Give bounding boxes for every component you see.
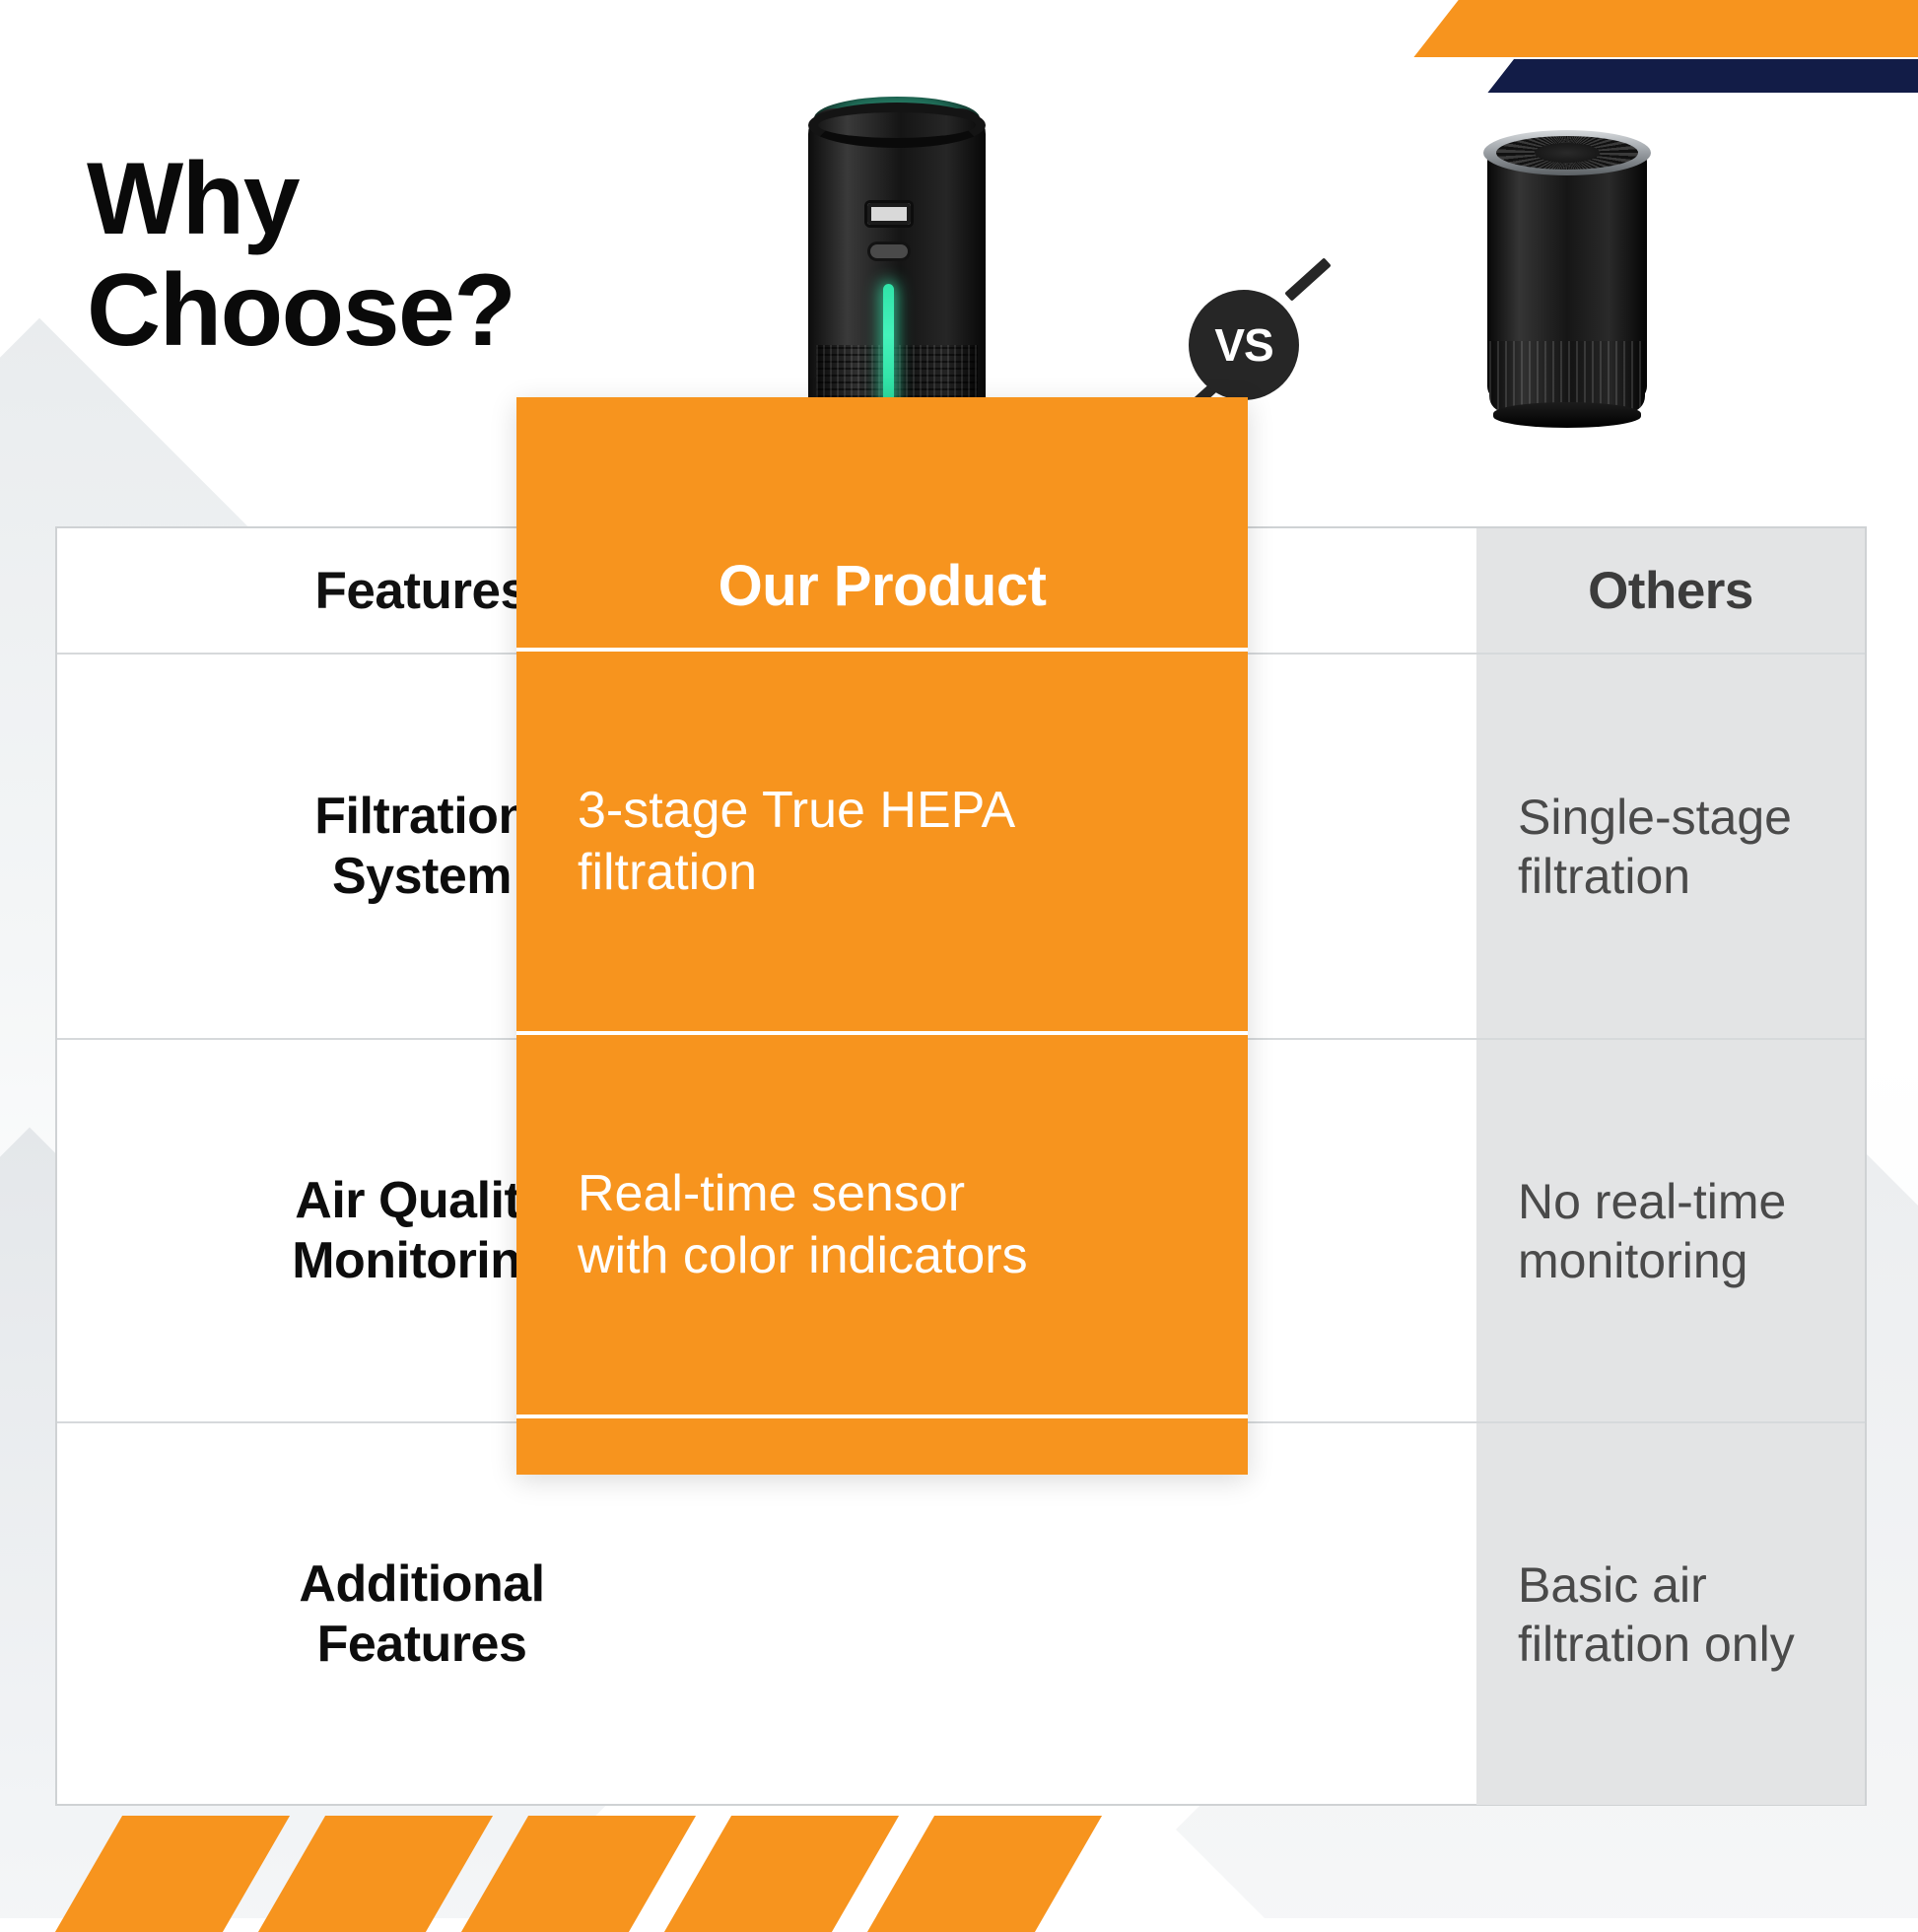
air-quality-led-indicator: [883, 284, 894, 412]
page-title: Why Choose?: [87, 144, 514, 368]
competitor-product-image: [1483, 130, 1651, 446]
others-cell: No real-time monitoring: [1476, 1040, 1865, 1421]
bottom-stripe: [867, 1816, 1102, 1932]
competitor-product-base: [1493, 402, 1641, 428]
competitor-fan-hub: [1535, 143, 1600, 163]
page-title-line-1: Why: [87, 144, 514, 255]
bottom-stripe: [461, 1816, 696, 1932]
corner-band-navy: [1487, 59, 1918, 93]
feature-label: Air Quality Monitoring: [292, 1171, 552, 1290]
feature-label: Filtration System: [314, 787, 528, 906]
header-label-others: Others: [1518, 561, 1823, 621]
others-value: No real-time monitoring: [1518, 1172, 1786, 1290]
our-product-cell: Real-time sensor with color indicators: [516, 1035, 1248, 1418]
our-product-value: Starry lights, USB charging, ions: [578, 1549, 982, 1672]
bottom-stripe: [55, 1816, 290, 1932]
our-product-column-header: Our Product: [516, 523, 1248, 652]
corner-band-orange: [1413, 0, 1918, 57]
our-product-cell: 3-stage True HEPA filtration: [516, 652, 1248, 1035]
header-label-features: Features: [315, 561, 529, 621]
our-product-cell: Starry lights, USB charging, ions: [516, 1418, 1248, 1802]
our-product-value: 3-stage True HEPA filtration: [578, 780, 1015, 903]
bottom-stripe: [664, 1816, 899, 1932]
bottom-stripe-group: [89, 1816, 1068, 1932]
usb-c-port-icon: [870, 244, 908, 258]
usb-port-icon: [867, 203, 911, 225]
header-label-our-product: Our Product: [719, 553, 1047, 619]
others-cell: Single-stage filtration: [1476, 655, 1865, 1038]
page-title-line-2: Choose?: [87, 255, 514, 367]
feature-label: Additional Features: [299, 1554, 544, 1674]
others-cell: Basic air filtration only: [1476, 1423, 1865, 1805]
vs-badge-circle: VS: [1189, 290, 1299, 400]
header-cell-others: Others: [1476, 528, 1865, 653]
others-value: Basic air filtration only: [1518, 1555, 1795, 1674]
our-product-top-rim: [808, 103, 986, 148]
our-product-highlight-column: Our Product 3-stage True HEPA filtration…: [516, 397, 1248, 1475]
our-product-value: Real-time sensor with color indicators: [578, 1163, 1028, 1286]
vs-badge-label: VS: [1214, 318, 1272, 372]
others-value: Single-stage filtration: [1518, 788, 1792, 906]
bottom-stripe: [258, 1816, 493, 1932]
